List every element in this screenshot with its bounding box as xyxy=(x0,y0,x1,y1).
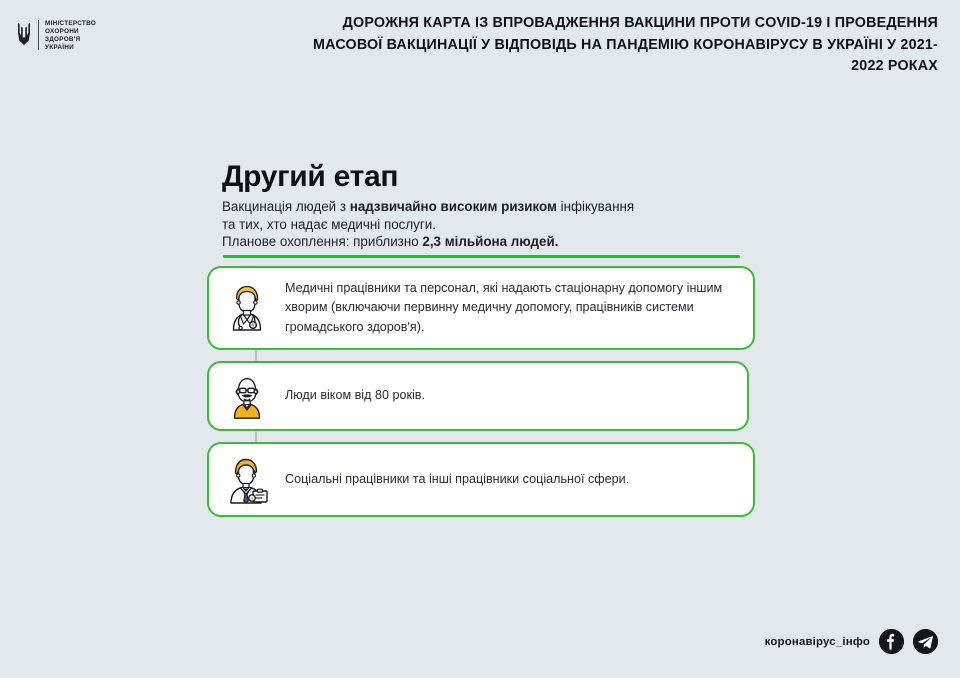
desc-line1-pre: Вакцинація людей з xyxy=(222,199,350,214)
green-divider-rule xyxy=(223,255,740,258)
page-header: МІНІСТЕРСТВО ОХОРОНИ ЗДОРОВ'Я УКРАЇНИ ДО… xyxy=(0,0,960,92)
target-group-list: Медичні працівники та персонал, які нада… xyxy=(207,266,767,528)
desc-line3-pre: Планове охоплення: приблизно xyxy=(222,234,422,249)
target-group-text: Люди віком від 80 років. xyxy=(285,386,747,406)
facebook-icon[interactable] xyxy=(879,629,904,654)
target-group-text: Соціальні працівники та інші працівники … xyxy=(285,470,753,490)
social-worker-clipboard-icon xyxy=(209,453,285,507)
ministry-logo: МІНІСТЕРСТВО ОХОРОНИ ЗДОРОВ'Я УКРАЇНИ xyxy=(16,19,96,52)
footer-label: коронавірус_інфо xyxy=(765,636,870,648)
desc-line2: та тих, хто надає медичні послуги. xyxy=(222,217,436,232)
stage-description: Вакцинація людей з надзвичайно високим р… xyxy=(222,198,742,251)
ukraine-trident-icon xyxy=(16,19,32,51)
telegram-icon[interactable] xyxy=(913,629,938,654)
desc-line3-bold: 2,3 мільйона людей. xyxy=(422,234,558,249)
desc-line1-post: інфікування xyxy=(557,199,634,214)
logo-divider xyxy=(38,20,39,50)
target-group-card[interactable]: Люди віком від 80 років. xyxy=(207,361,749,431)
doctor-stethoscope-icon xyxy=(209,281,285,335)
card-connector-line xyxy=(255,350,257,361)
target-group-card[interactable]: Соціальні працівники та інші працівники … xyxy=(207,442,755,517)
ministry-logo-text: МІНІСТЕРСТВО ОХОРОНИ ЗДОРОВ'Я УКРАЇНИ xyxy=(45,19,96,52)
target-group-card[interactable]: Медичні працівники та персонал, які нада… xyxy=(207,266,755,350)
page-title: ДОРОЖНЯ КАРТА ІЗ ВПРОВАДЖЕННЯ ВАКЦИНИ ПР… xyxy=(298,13,938,78)
card-connector-line xyxy=(255,431,257,442)
stage-heading: Другий етап xyxy=(222,160,398,194)
desc-line1-bold: надзвичайно високим ризиком xyxy=(350,199,557,214)
target-group-text: Медичні працівники та персонал, які нада… xyxy=(285,279,753,338)
footer: коронавірус_інфо xyxy=(765,629,938,654)
elderly-man-icon xyxy=(209,370,285,422)
